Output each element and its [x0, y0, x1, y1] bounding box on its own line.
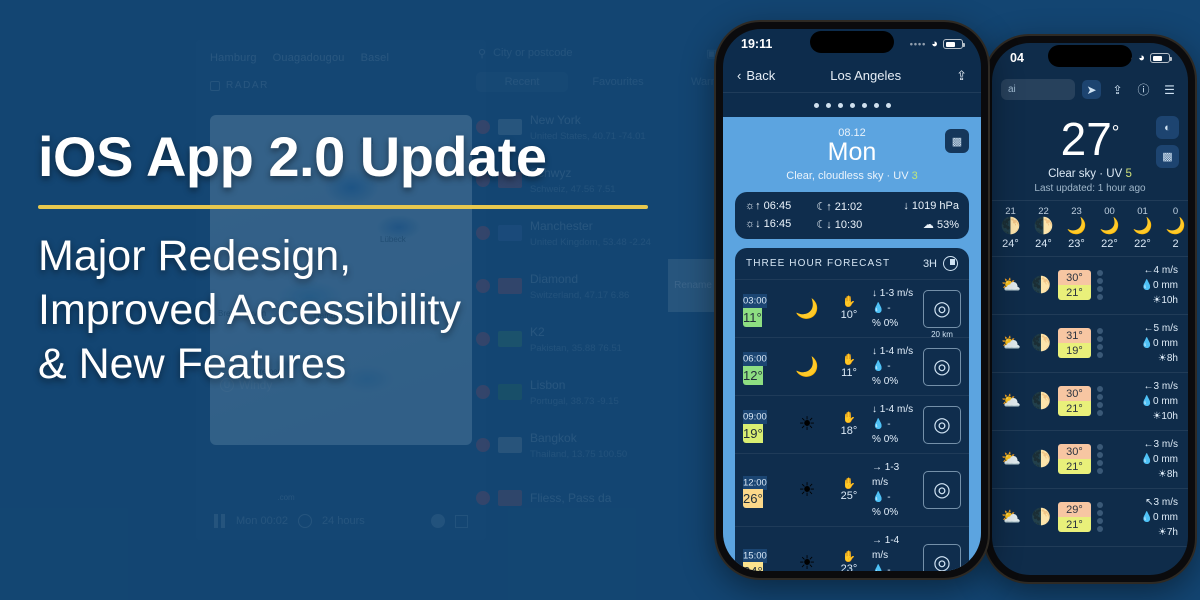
moon-icon: 🌙 [1126, 217, 1159, 238]
feels-like: ✋18° [831, 412, 867, 436]
sunset-icon: ☼↓ [745, 218, 761, 230]
droplet-icon: 💧 [1141, 454, 1153, 465]
moonrise-value: ☾↑ 21:02 [816, 200, 887, 213]
moon-clear-icon: 🌙 [788, 355, 826, 379]
pressure-icon: ↓ [903, 200, 909, 212]
visibility-label: 20 km [931, 330, 953, 339]
moon-cloud-icon: 🌓 [1028, 275, 1054, 295]
time-temp-chip: 03:00 11° [743, 291, 783, 327]
moon-cloud-icon: 🌓 [994, 217, 1027, 238]
status-time: 04 [1010, 51, 1024, 65]
daily-low: 21° [1058, 517, 1091, 532]
moonset-value: ☾↓ 10:30 [816, 218, 887, 231]
toolbar-back: ai ➤ ⇪ ⓘ ☰ [992, 73, 1188, 106]
wind-radar-icon[interactable]: ◎ [923, 471, 961, 509]
forecast-time: 12:00 [743, 476, 767, 490]
daily-row[interactable]: ⛅ 🌓 30°21° ←3 m/s 💧0 mm ☀10h [992, 373, 1188, 431]
sun-cloud-icon: ⛅ [998, 507, 1024, 527]
droplet-icon: 💧 [872, 492, 884, 503]
help-icon[interactable]: ⓘ [1134, 80, 1153, 99]
daily-metrics: ←3 m/s 💧0 mm ☀8h [1108, 437, 1182, 482]
forecast-metrics: ↓ 1-3 m/s 💧 - % 0% [872, 286, 918, 331]
percent-icon: % [872, 434, 881, 445]
forecast-row[interactable]: 15:00 24° ☀ ✋23° → 1-4 m/s 💧 - % 0% ◎ [735, 527, 969, 571]
forecast-metrics: → 1-3 m/s 💧 - % 0% [872, 460, 918, 520]
forecast-temp: 26° [743, 489, 763, 508]
precip-indicator [1095, 386, 1104, 416]
phone-mockup-back: 04 •••• ◕ ai ➤ ⇪ ⓘ ☰ 27° Clear sky · [985, 36, 1195, 582]
chart-icon[interactable]: ▩ [945, 129, 969, 153]
hand-icon: ✋ [831, 478, 867, 490]
nav-bar: ‹ Back Los Angeles ⇪ [723, 59, 981, 93]
nav-title: Los Angeles [830, 68, 901, 83]
search-input[interactable]: ai [1001, 79, 1075, 100]
hour-cell: 23🌙23° [1060, 206, 1093, 250]
wind-arrow-icon: ↖ [1145, 497, 1153, 508]
droplet-icon: 💧 [872, 419, 884, 430]
forecast-header: THREE HOUR FORECAST 3H [735, 248, 969, 280]
moon-cloud-icon: 🌓 [1028, 507, 1054, 527]
sun-cloud-icon: ⛅ [998, 333, 1024, 353]
wind-arrow-icon: → [872, 535, 882, 546]
hand-icon: ✋ [831, 412, 867, 424]
sun-cloud-icon: ⛅ [998, 275, 1024, 295]
hero-side-buttons: ◐ ▩ [1156, 116, 1179, 168]
uv-value: 3 [912, 170, 918, 182]
forecast-metrics: → 1-4 m/s 💧 - % 0% [872, 533, 918, 571]
forecast-metrics: ↓ 1-4 m/s 💧 - % 0% [872, 344, 918, 389]
forecast-time: 09:00 [743, 410, 767, 424]
wind-radar-icon[interactable]: ◎20 km [923, 290, 961, 328]
sun-icon: ☀ [1152, 411, 1161, 422]
moon-cloud-icon: 🌓 [1028, 391, 1054, 411]
wind-arrow-icon: ← [1144, 381, 1154, 392]
wind-arrow-icon: → [872, 462, 882, 473]
precip-indicator [1095, 328, 1104, 358]
hour-cell: 00🌙22° [1093, 206, 1126, 250]
moonset-icon: ☾↓ [816, 219, 831, 231]
sun-icon: ☀ [788, 552, 826, 572]
hour-cell: 22🌓24° [1027, 206, 1060, 250]
precip-indicator [1095, 502, 1104, 532]
subtitle-line-3: & New Features [38, 337, 718, 391]
phone-front-screen: 19:11 •••• ◕ ‹ Back Los Angeles ⇪ 0 [723, 29, 981, 571]
time-temp-chip: 09:00 19° [743, 407, 783, 443]
daily-metrics: ←4 m/s 💧0 mm ☀10h [1108, 263, 1182, 308]
last-updated-label: Last updated: 1 hour ago [992, 183, 1188, 194]
forecast-row[interactable]: 09:00 19° ☀ ✋18° ↓ 1-4 m/s 💧 - % 0% ◎ [735, 396, 969, 454]
droplet-icon: 💧 [872, 361, 884, 372]
pressure-value: ↓ 1019 hPa [888, 200, 959, 213]
phone-back-screen: 04 •••• ◕ ai ➤ ⇪ ⓘ ☰ 27° Clear sky · [992, 43, 1188, 575]
forecast-row[interactable]: 06:00 12° 🌙 ✋11° ↓ 1-4 m/s 💧 - % 0% ◎ [735, 338, 969, 396]
daily-row[interactable]: ⛅ 🌓 30°21° ←4 m/s 💧0 mm ☀10h [992, 257, 1188, 315]
feels-like: ✋25° [831, 478, 867, 502]
daily-row[interactable]: ⛅ 🌓 31°19° ←5 m/s 💧0 mm ☀8h [992, 315, 1188, 373]
forecast-time: 06:00 [743, 352, 767, 366]
battery-icon [943, 39, 963, 49]
forecast-row[interactable]: 12:00 26° ☀ ✋25° → 1-3 m/s 💧 - % 0% ◎ [735, 454, 969, 527]
percent-icon: % [872, 318, 881, 329]
chevron-left-icon: ‹ [737, 68, 741, 83]
forecast-temp: 12° [743, 366, 763, 385]
sun-icon: ☀ [1158, 527, 1167, 538]
moonrise-icon: ☾↑ [816, 201, 831, 213]
daily-low: 21° [1058, 459, 1091, 474]
sun-cloud-icon: ⛅ [998, 449, 1024, 469]
time-temp-chip: 12:00 26° [743, 472, 783, 508]
sun-icon: ☀ [788, 479, 826, 502]
forecast-temp: 19° [743, 424, 763, 443]
wind-arrow-icon: ↓ [872, 346, 877, 357]
daily-high: 29° [1058, 502, 1091, 517]
status-time: 19:11 [741, 37, 772, 51]
signal-icon: •••• [910, 39, 927, 49]
dynamic-island [810, 31, 894, 53]
precip-indicator [1095, 270, 1104, 300]
daily-row[interactable]: ⛅ 🌓 30°21° ←3 m/s 💧0 mm ☀8h [992, 431, 1188, 489]
wind-arrow-icon: ↓ [872, 404, 877, 415]
daily-low: 21° [1058, 401, 1091, 416]
daily-row[interactable]: ⛅ 🌓 29°21° ↖3 m/s 💧0 mm ☀7h [992, 489, 1188, 547]
chart-icon[interactable]: ▩ [1156, 145, 1179, 168]
percent-icon: % [872, 507, 881, 518]
hour-cell: 0🌙2 [1159, 206, 1188, 250]
droplet-icon: 💧 [1141, 280, 1153, 291]
sunset-value: ☼↓ 16:45 [745, 218, 816, 231]
moon-icon: 🌙 [1093, 217, 1126, 238]
daily-metrics: ←3 m/s 💧0 mm ☀10h [1108, 379, 1182, 424]
droplet-icon: 💧 [872, 565, 884, 571]
droplet-icon: 💧 [872, 303, 884, 314]
current-conditions-back: 27° Clear sky · UV 5 Last updated: 1 hou… [992, 106, 1188, 200]
sun-icon: ☀ [1152, 295, 1161, 306]
wind-radar-icon[interactable]: ◎ [923, 348, 961, 386]
wind-arrow-icon: ← [1144, 439, 1154, 450]
feels-like: ✋11° [831, 354, 867, 378]
phone-mockup-front: 19:11 •••• ◕ ‹ Back Los Angeles ⇪ 0 [716, 22, 988, 578]
sun-icon: ☀ [788, 413, 826, 436]
promo-banner: Hamburg Ouagadougou Basel RADAR Bremerha… [0, 0, 1200, 600]
feels-like: ✋10° [831, 296, 867, 320]
back-button[interactable]: ‹ Back [737, 68, 775, 83]
time-temp-chip: 15:00 24° [743, 545, 783, 571]
dynamic-island [1048, 45, 1132, 67]
wind-radar-icon[interactable]: ◎ [923, 406, 961, 444]
wifi-icon: ◕ [1138, 52, 1145, 64]
day-hero: 08.12 Mon Clear, cloudless sky · UV 3 ▩ … [723, 117, 981, 571]
subtitle-line-2: Improved Accessibility [38, 283, 718, 337]
moon-icon: 🌙 [1060, 217, 1093, 238]
sun-cloud-icon: ⛅ [998, 391, 1024, 411]
radar-icon[interactable]: ◐ [1156, 116, 1179, 139]
wind-arrow-icon: ← [1144, 323, 1154, 334]
uv-value: 5 [1125, 168, 1131, 180]
hourly-strip[interactable]: 21🌓24° 22🌓24° 23🌙23° 00🌙22° 01🌙22° 0🌙2 [992, 200, 1188, 257]
sun-icon: ☀ [1158, 353, 1167, 364]
precip-indicator [1095, 444, 1104, 474]
wind-arrow-icon: ← [1144, 265, 1154, 276]
degree-symbol: ° [1112, 123, 1120, 144]
forecast-interval[interactable]: 3H [923, 258, 937, 270]
hour-cell: 21🌓24° [994, 206, 1027, 250]
droplet-icon: 💧 [1141, 512, 1153, 523]
daily-high: 30° [1058, 444, 1091, 459]
percent-icon: % [872, 376, 881, 387]
hand-icon: ✋ [831, 551, 867, 563]
wind-arrow-icon: ↓ [872, 288, 877, 299]
moon-clear-icon: 🌙 [788, 297, 826, 321]
current-description: Clear sky · UV 5 [992, 168, 1188, 180]
title-divider [38, 205, 648, 209]
headline-block: iOS App 2.0 Update Major Redesign, Impro… [38, 128, 718, 391]
hero-day: Mon [735, 138, 969, 167]
three-hour-forecast-card: THREE HOUR FORECAST 3H 03:00 11° [735, 248, 969, 571]
forecast-temp: 11° [743, 308, 762, 327]
hero-description: Clear, cloudless sky · UV 3 [735, 170, 969, 182]
daily-low: 21° [1058, 285, 1091, 300]
wind-radar-icon[interactable]: ◎ [923, 544, 961, 571]
moon-cloud-icon: 🌓 [1028, 449, 1054, 469]
locate-icon[interactable]: ➤ [1082, 80, 1101, 99]
moon-cloud-icon: 🌓 [1027, 217, 1060, 238]
time-temp-chip: 06:00 12° [743, 349, 783, 385]
share-icon[interactable]: ⇪ [1108, 80, 1127, 99]
share-icon[interactable]: ⇪ [956, 68, 967, 84]
forecast-time: 15:00 [743, 549, 767, 563]
droplet-icon: 💧 [1141, 396, 1153, 407]
menu-icon[interactable]: ☰ [1160, 80, 1179, 99]
daily-metrics: ↖3 m/s 💧0 mm ☀7h [1108, 495, 1182, 540]
forecast-metrics: ↓ 1-4 m/s 💧 - % 0% [872, 402, 918, 447]
page-title: iOS App 2.0 Update [38, 128, 718, 187]
feels-like: ✋23° [831, 551, 867, 571]
humidity-icon: ☁ [923, 219, 934, 231]
astro-card: ☼↑ 06:45 ☾↑ 21:02 ↓ 1019 hPa ☼↓ 16:45 ☾↓… [735, 192, 969, 239]
forecast-temp: 24° [743, 562, 763, 571]
hour-cell: 01🌙22° [1126, 206, 1159, 250]
clock-icon[interactable] [943, 256, 958, 271]
daily-high: 30° [1058, 386, 1091, 401]
daily-low: 19° [1058, 343, 1091, 358]
daily-high: 31° [1058, 328, 1091, 343]
hand-icon: ✋ [831, 296, 867, 308]
battery-icon [1150, 53, 1170, 63]
hand-icon: ✋ [831, 354, 867, 366]
daily-high: 30° [1058, 270, 1091, 285]
moon-cloud-icon: 🌓 [1028, 333, 1054, 353]
sunrise-value: ☼↑ 06:45 [745, 200, 816, 213]
humidity-value: ☁ 53% [888, 218, 959, 231]
sunrise-icon: ☼↑ [745, 200, 761, 212]
sun-icon: ☀ [1158, 469, 1167, 480]
daily-metrics: ←5 m/s 💧0 mm ☀8h [1108, 321, 1182, 366]
wifi-icon: ◕ [931, 38, 938, 50]
subtitle-line-1: Major Redesign, [38, 229, 718, 283]
page-indicator[interactable] [723, 93, 981, 117]
droplet-icon: 💧 [1141, 338, 1153, 349]
moon-icon: 🌙 [1159, 217, 1188, 238]
forecast-time: 03:00 [743, 294, 767, 308]
forecast-row-wrap: 03:00 11° 🌙 ✋10° ↓ 1-3 m/s 💧 - % 0% ◎20 … [735, 280, 969, 338]
forecast-row[interactable]: 03:00 11° 🌙 ✋10° ↓ 1-3 m/s 💧 - % 0% ◎20 … [735, 280, 969, 338]
